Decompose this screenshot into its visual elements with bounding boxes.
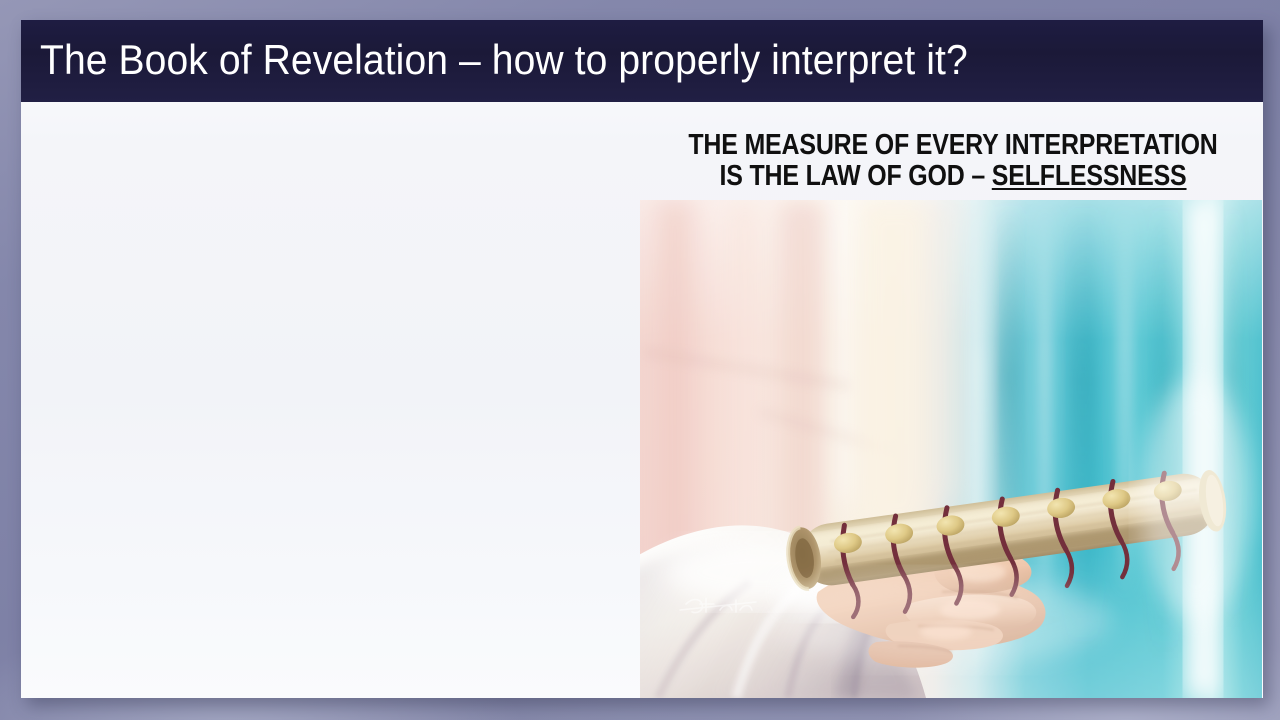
caption-line-2: IS THE LAW OF GOD – SELFLESSNESS [686,161,1219,192]
caption-line-1: THE MEASURE OF EVERY INTERPRETATION [686,130,1219,161]
caption-emphasis-selflessness: SELFLESSNESS [992,160,1187,192]
scroll-illustration-svg [640,200,1262,698]
slide-frame-background: The Book of Revelation – how to properly… [0,0,1280,720]
scroll-illustration [640,200,1262,698]
slide-title-band: The Book of Revelation – how to properly… [21,20,1263,102]
presentation-slide: The Book of Revelation – how to properly… [21,20,1263,698]
picture-caption: THE MEASURE OF EVERY INTERPRETATION IS T… [643,130,1263,192]
caption-line-2-prefix: IS THE LAW OF GOD – [719,160,991,192]
page-title: The Book of Revelation – how to properly… [40,36,968,84]
